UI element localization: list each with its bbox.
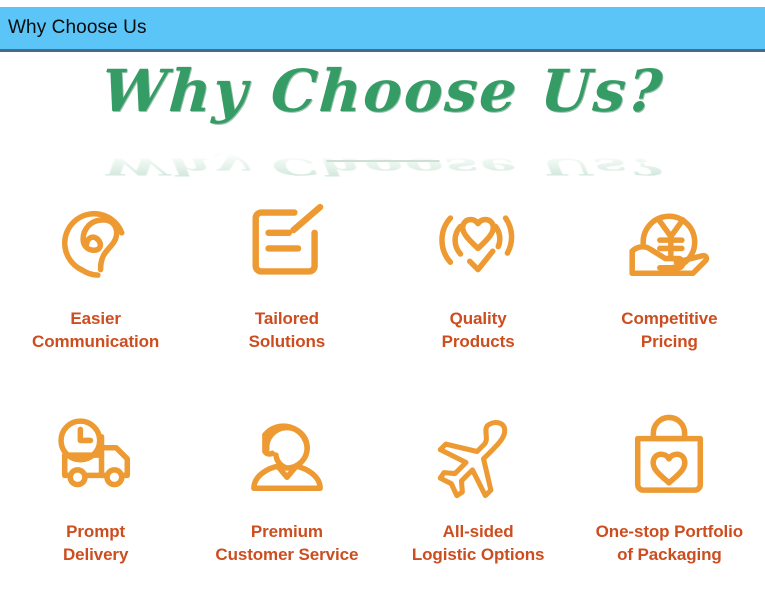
page-content: Why Choose Us? Why Choose Us? Easier Com… (0, 56, 765, 599)
feature-label: Easier Communication (32, 308, 159, 354)
ear-in-circle-icon (44, 190, 148, 294)
feature-one-stop-portfolio-of-packaging[interactable]: One-stop Portfolio of Packaging (574, 401, 765, 616)
feature-tailored-solutions[interactable]: Tailored Solutions (191, 186, 382, 401)
hand-yen-coin-icon (617, 190, 721, 294)
feature-easier-communication[interactable]: Easier Communication (0, 186, 191, 401)
hero-headline-text: Why Choose Us? (100, 62, 666, 120)
hero-headline: Why Choose Us? (0, 62, 765, 120)
hero-divider (326, 160, 439, 162)
document-pencil-icon (235, 190, 339, 294)
feature-label: Tailored Solutions (249, 308, 326, 354)
hero-section: Why Choose Us? Why Choose Us? (0, 56, 765, 168)
feature-all-sided-logistic-options[interactable]: All-sided Logistic Options (383, 401, 574, 616)
shopping-bag-heart-icon (617, 405, 721, 509)
feature-premium-customer-service[interactable]: Premium Customer Service (191, 401, 382, 616)
feature-label: Competitive Pricing (621, 308, 717, 354)
feature-label: Prompt Delivery (63, 521, 128, 567)
features-grid: Easier Communication Tailored Solutions (0, 186, 765, 616)
heart-signal-check-icon (426, 190, 530, 294)
hero-headline-reflection-text: Why Choose Us? (0, 153, 765, 180)
feature-competitive-pricing[interactable]: Competitive Pricing (574, 186, 765, 401)
delivery-truck-clock-icon (44, 405, 148, 509)
feature-prompt-delivery[interactable]: Prompt Delivery (0, 401, 191, 616)
feature-label: All-sided Logistic Options (412, 521, 545, 567)
feature-quality-products[interactable]: Quality Products (383, 186, 574, 401)
feature-label: One-stop Portfolio of Packaging (596, 521, 743, 567)
headset-agent-icon (235, 405, 339, 509)
window-titlebar: Why Choose Us (0, 7, 765, 52)
window-title: Why Choose Us (0, 17, 147, 39)
feature-label: Premium Customer Service (215, 521, 358, 567)
feature-label: Quality Products (442, 308, 515, 354)
airplane-icon (426, 405, 530, 509)
